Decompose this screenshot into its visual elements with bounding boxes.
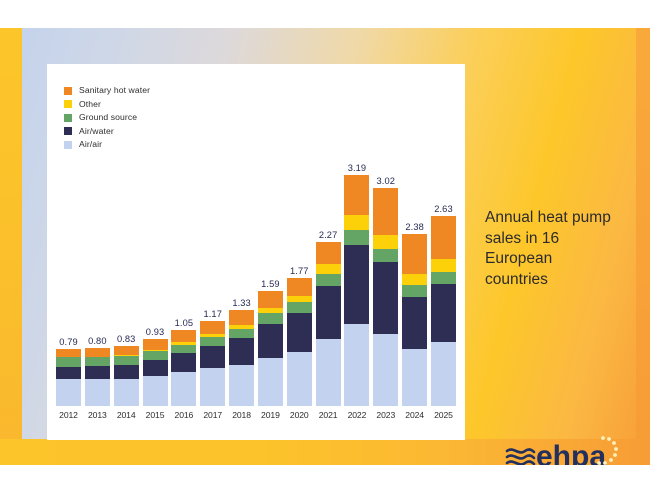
legend-item-label: Other xyxy=(79,100,101,109)
bar-value-label: 1.05 xyxy=(175,318,194,328)
x-axis-tick: 2018 xyxy=(229,410,254,426)
sanitary-hot-water-swatch xyxy=(64,87,72,95)
bar-segment[interactable] xyxy=(200,368,225,406)
bar-value-label: 0.83 xyxy=(117,334,136,344)
bar-segment[interactable] xyxy=(402,285,427,297)
bar-column[interactable]: 0.83 xyxy=(114,160,139,406)
bar-segment[interactable] xyxy=(171,372,196,406)
bar-segment[interactable] xyxy=(56,379,81,406)
bar-value-label: 3.19 xyxy=(348,163,367,173)
bar-value-label: 1.59 xyxy=(261,279,280,289)
bar-segment[interactable] xyxy=(114,356,139,365)
bar-value-label: 2.38 xyxy=(405,222,424,232)
chart-panel: Sanitary hot waterOtherGround sourceAir/… xyxy=(47,64,465,440)
x-axis-tick: 2020 xyxy=(287,410,312,426)
x-axis-tick: 2022 xyxy=(344,410,369,426)
x-axis-tick: 2013 xyxy=(85,410,110,426)
bar-segment[interactable] xyxy=(431,284,456,342)
bar-column[interactable]: 0.93 xyxy=(143,160,168,406)
bar-segment[interactable] xyxy=(258,291,283,308)
bar-column[interactable]: 3.02 xyxy=(373,160,398,406)
legend-item[interactable]: Other xyxy=(64,98,150,112)
bar-segment[interactable] xyxy=(316,286,341,339)
legend-item[interactable]: Ground source xyxy=(64,111,150,125)
bar-segment[interactable] xyxy=(431,259,456,272)
bar-value-label: 0.80 xyxy=(88,336,107,346)
x-axis-tick: 2012 xyxy=(56,410,81,426)
bar-segment[interactable] xyxy=(287,302,312,313)
legend-item-label: Air/air xyxy=(79,140,102,149)
x-axis-tick: 2014 xyxy=(114,410,139,426)
bar-segment[interactable] xyxy=(143,339,168,350)
bar-column[interactable]: 2.38 xyxy=(402,160,427,406)
ehpa-wordmark: ehpa xyxy=(536,440,606,465)
bar-segment[interactable] xyxy=(402,349,427,406)
bar-segment[interactable] xyxy=(143,376,168,406)
bar-segment[interactable] xyxy=(200,346,225,368)
bar-segment[interactable] xyxy=(114,346,139,355)
slide-title: Annual heat pump sales in 16 European co… xyxy=(485,208,615,290)
other-swatch xyxy=(64,100,72,108)
bar-segment[interactable] xyxy=(287,278,312,296)
bar-segment[interactable] xyxy=(344,215,369,230)
air-water-swatch xyxy=(64,127,72,135)
legend-item[interactable]: Air/water xyxy=(64,125,150,139)
bar-value-label: 1.77 xyxy=(290,266,309,276)
bar-column[interactable]: 1.59 xyxy=(258,160,283,406)
bar-segment[interactable] xyxy=(56,357,81,367)
x-axis-tick: 2015 xyxy=(143,410,168,426)
air-air-swatch xyxy=(64,141,72,149)
bar-segment[interactable] xyxy=(373,188,398,235)
bar-segment[interactable] xyxy=(373,249,398,262)
legend-item-label: Ground source xyxy=(79,113,137,122)
bar-segment[interactable] xyxy=(171,353,196,372)
bar-segment[interactable] xyxy=(258,324,283,358)
x-axis-tick: 2016 xyxy=(171,410,196,426)
bar-segment[interactable] xyxy=(85,348,110,357)
left-accent-band xyxy=(0,28,22,465)
bar-value-label: 2.63 xyxy=(434,204,453,214)
bar-segment[interactable] xyxy=(229,329,254,338)
bar-segment[interactable] xyxy=(402,234,427,274)
bar-segment[interactable] xyxy=(85,366,110,379)
bar-segment[interactable] xyxy=(229,365,254,406)
bar-segment[interactable] xyxy=(373,262,398,334)
bar-segment[interactable] xyxy=(316,339,341,406)
bar-segment[interactable] xyxy=(171,330,196,342)
x-axis-tick: 2024 xyxy=(402,410,427,426)
bar-segment[interactable] xyxy=(287,352,312,406)
bar-segment[interactable] xyxy=(431,272,456,284)
bar-segment[interactable] xyxy=(431,216,456,259)
bar-column[interactable]: 3.19 xyxy=(344,160,369,406)
bar-segment[interactable] xyxy=(56,367,81,379)
legend-item-label: Air/water xyxy=(79,127,114,136)
x-axis-tick: 2025 xyxy=(431,410,456,426)
bar-segment[interactable] xyxy=(56,349,81,357)
chart-legend: Sanitary hot waterOtherGround sourceAir/… xyxy=(64,84,150,152)
x-axis-tick: 2017 xyxy=(200,410,225,426)
bar-segment[interactable] xyxy=(200,321,225,334)
bar-segment[interactable] xyxy=(85,357,110,366)
bar-segment[interactable] xyxy=(402,274,427,286)
legend-item[interactable]: Sanitary hot water xyxy=(64,84,150,98)
bar-segment[interactable] xyxy=(200,337,225,346)
ehpa-logo: ehpa xyxy=(505,432,620,465)
bar-segment[interactable] xyxy=(373,334,398,406)
bar-column[interactable]: 1.33 xyxy=(229,160,254,406)
bar-segment[interactable] xyxy=(402,297,427,349)
bar-column[interactable]: 2.27 xyxy=(316,160,341,406)
slide: Sanitary hot waterOtherGround sourceAir/… xyxy=(0,28,650,465)
bar-value-label: 0.79 xyxy=(59,337,78,347)
bar-column[interactable]: 1.17 xyxy=(200,160,225,406)
bar-segment[interactable] xyxy=(114,379,139,406)
bar-segment[interactable] xyxy=(373,235,398,249)
bar-column[interactable]: 1.77 xyxy=(287,160,312,406)
bar-segment[interactable] xyxy=(344,230,369,244)
bar-value-label: 0.93 xyxy=(146,327,165,337)
stacked-bar-plot: 0.790.800.830.931.051.171.331.591.772.27… xyxy=(56,160,456,406)
bar-segment[interactable] xyxy=(258,358,283,406)
right-accent-band xyxy=(636,28,650,465)
bar-segment[interactable] xyxy=(114,365,139,379)
bar-column[interactable]: 2.63 xyxy=(431,160,456,406)
x-axis-tick: 2019 xyxy=(258,410,283,426)
bar-segment[interactable] xyxy=(229,310,254,325)
bar-segment[interactable] xyxy=(431,342,456,406)
x-axis-labels: 2012201320142015201620172018201920202021… xyxy=(56,410,456,426)
ground-source-swatch xyxy=(64,114,72,122)
bar-segment[interactable] xyxy=(258,313,283,323)
bar-column[interactable]: 1.05 xyxy=(171,160,196,406)
wave-lines-icon xyxy=(507,449,534,464)
legend-item-label: Sanitary hot water xyxy=(79,86,150,95)
bar-value-label: 2.27 xyxy=(319,230,338,240)
bar-column[interactable]: 0.80 xyxy=(85,160,110,406)
bar-segment[interactable] xyxy=(316,242,341,264)
x-axis-tick: 2023 xyxy=(373,410,398,426)
bar-value-label: 1.17 xyxy=(203,309,222,319)
bar-segment[interactable] xyxy=(143,351,168,360)
bar-segment[interactable] xyxy=(229,338,254,365)
bar-segment[interactable] xyxy=(143,360,168,376)
bar-segment[interactable] xyxy=(344,175,369,215)
bar-segment[interactable] xyxy=(171,345,196,354)
bar-segment[interactable] xyxy=(344,245,369,324)
bar-value-label: 3.02 xyxy=(377,176,396,186)
bar-segment[interactable] xyxy=(316,264,341,273)
x-axis-tick: 2021 xyxy=(316,410,341,426)
bar-segment[interactable] xyxy=(287,313,312,353)
bar-segment[interactable] xyxy=(85,379,110,406)
legend-item[interactable]: Air/air xyxy=(64,138,150,152)
bar-segment[interactable] xyxy=(316,274,341,286)
bar-column[interactable]: 0.79 xyxy=(56,160,81,406)
bar-value-label: 1.33 xyxy=(232,298,251,308)
bar-segment[interactable] xyxy=(344,324,369,406)
